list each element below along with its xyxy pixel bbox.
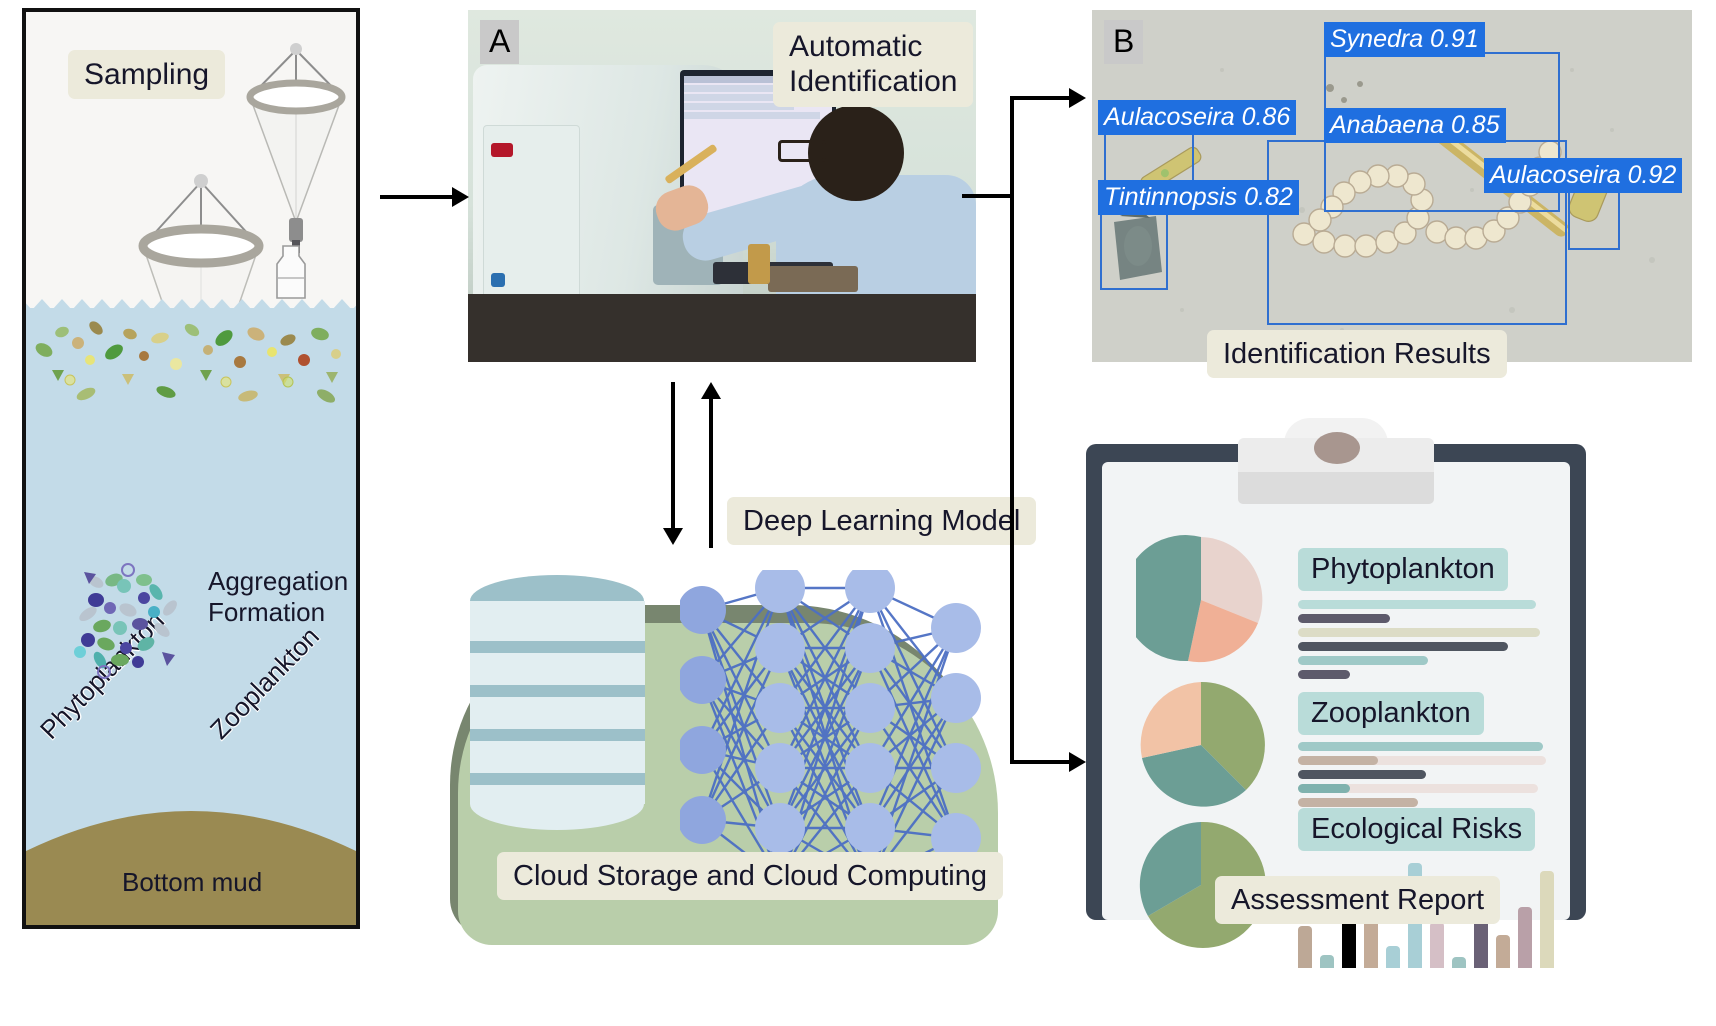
identification-results-caption: Identification Results xyxy=(1207,330,1507,378)
pie-chart-phytoplankton xyxy=(1136,535,1266,665)
status-led-icon xyxy=(491,273,505,287)
bar-1 xyxy=(1298,926,1312,968)
detection-label-aulacoseira-left: Aulacoseira 0.86 xyxy=(1098,100,1296,135)
arrow-a-to-report-horizontal xyxy=(1010,760,1072,764)
clipboard-knob xyxy=(1314,432,1360,464)
arrow-a-to-b-top xyxy=(1010,96,1072,100)
report-text-lines-phytoplankton xyxy=(1298,600,1548,670)
glasses-icon xyxy=(778,140,826,162)
sampling-caption: Sampling xyxy=(68,50,225,99)
report-text-lines-zooplankton xyxy=(1298,742,1548,812)
arrow-cloud-to-a-up-head xyxy=(701,382,721,399)
aggregation-formation-label: Aggregation Formation xyxy=(208,566,348,628)
arrow-a-to-cloud-down-head xyxy=(663,528,683,545)
arrow-a-to-report-vertical xyxy=(1010,194,1014,764)
detection-label-tintinnopsis: Tintinnopsis 0.82 xyxy=(1098,180,1299,215)
arrow-a-to-b-head xyxy=(1069,88,1086,108)
bottom-mud: Bottom mud xyxy=(26,805,356,925)
report-section-label-zooplankton: Zooplankton xyxy=(1298,692,1484,735)
sample-vial xyxy=(748,244,770,284)
arrow-a-to-report-head xyxy=(1069,752,1086,772)
arrow-a-to-cloud-down-line xyxy=(671,382,675,532)
arrow-cloud-to-a-up-line xyxy=(709,398,713,548)
bar-5 xyxy=(1386,946,1400,968)
database-cylinder xyxy=(470,575,645,830)
detection-label-anabaena: Anabaena 0.85 xyxy=(1324,108,1506,143)
lab-bench xyxy=(468,294,976,362)
bar-12 xyxy=(1540,871,1554,968)
deep-learning-model-caption: Deep Learning Model xyxy=(727,497,1036,545)
neural-network-graphic xyxy=(680,570,1000,900)
report-section-label-phytoplankton: Phytoplankton xyxy=(1298,548,1508,591)
bbox-tintinnopsis xyxy=(1100,210,1168,290)
bar-10 xyxy=(1496,935,1510,968)
arrow-a-to-b-horizontal xyxy=(962,194,1014,198)
assessment-report-clipboard: Phytoplankton Zooplankton Ecological Ris… xyxy=(1086,420,1586,920)
arrow-a-to-b-vertical xyxy=(1010,96,1014,198)
sample-tray xyxy=(768,266,858,292)
detection-label-aulacoseira-right: Aulacoseira 0.92 xyxy=(1484,158,1682,193)
bar-11 xyxy=(1518,907,1532,968)
bar-7 xyxy=(1430,922,1444,968)
panel-b-tag: B xyxy=(1104,20,1143,64)
clipboard-grip xyxy=(1238,472,1434,504)
arrow-sampling-to-panel-a-line xyxy=(380,195,455,199)
cloud-storage-caption: Cloud Storage and Cloud Computing xyxy=(497,852,1003,900)
bar-2 xyxy=(1320,955,1334,968)
detection-label-synedra: Synedra 0.91 xyxy=(1324,22,1485,57)
arrow-sampling-to-panel-a-head xyxy=(452,187,469,207)
automatic-identification-caption: Automatic Identification xyxy=(773,22,973,107)
panel-b-micrograph: Synedra 0.91 Aulacoseira 0.86 Anabaena 0… xyxy=(1092,10,1692,362)
report-section-label-ecological-risks: Ecological Risks xyxy=(1298,808,1535,851)
power-led-icon xyxy=(491,143,513,157)
assessment-report-caption: Assessment Report xyxy=(1215,876,1500,924)
bar-8 xyxy=(1452,957,1466,968)
panel-a-tag: A xyxy=(480,20,519,64)
water-column: Phytoplankton Zooplankton xyxy=(26,294,356,925)
plankton-field xyxy=(26,308,356,428)
pie-chart-zooplankton xyxy=(1136,680,1266,810)
bottom-mud-label: Bottom mud xyxy=(122,867,262,898)
aggregation-cluster xyxy=(66,552,196,682)
sampling-panel: Phytoplankton Zooplankton xyxy=(22,8,360,929)
